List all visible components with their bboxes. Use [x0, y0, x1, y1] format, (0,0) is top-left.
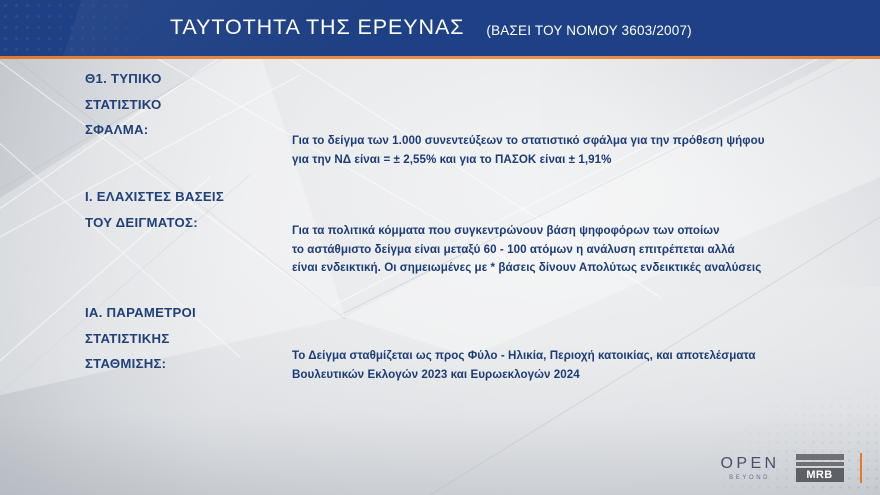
- section-body-statistical-error: Για το δείγμα των 1.000 συνεντεύξεων το …: [292, 132, 765, 169]
- section-body-minimum-bases: Για τα πολιτικά κόμματα που συγκεντρώνου…: [292, 222, 761, 278]
- mrb-logo-text: MRB: [796, 468, 844, 482]
- section-label-minimum-bases: Ι. ΕΛΑΧΙΣΤΕΣ ΒΑΣΕΙΣ ΤΟΥ ΔΕΙΓΜΑΤΟΣ:: [85, 184, 224, 235]
- label-line: ΙΑ. ΠΑΡΑΜΕΤΡΟΙ: [85, 300, 196, 326]
- section-label-weighting-parameters: ΙΑ. ΠΑΡΑΜΕΤΡΟΙ ΣΤΑΤΙΣΤΙΚΗΣ ΣΤΑΘΜΙΣΗΣ:: [85, 300, 196, 377]
- section-body-weighting-parameters: Το Δείγμα σταθμίζεται ως προς Φύλο - Ηλι…: [292, 347, 756, 384]
- logo-divider: [860, 453, 863, 483]
- body-line: Για τα πολιτικά κόμματα που συγκεντρώνου…: [292, 222, 761, 241]
- open-logo-tagline: BEYOND: [727, 475, 771, 481]
- label-line: Ι. ΕΛΑΧΙΣΤΕΣ ΒΑΣΕΙΣ: [85, 184, 224, 210]
- label-line: ΣΦΑΛΜΑ:: [85, 117, 162, 143]
- logo-group: OPEN BEYOND MRB: [717, 453, 862, 483]
- header-bar: ΤΑΥΤΟΤΗΤΑ ΤΗΣ ΕΡΕΥΝΑΣ (ΒΑΣΕΙ ΤΟΥ ΝΟΜΟΥ 3…: [0, 0, 880, 56]
- body-line: το αστάθμιστο δείγμα είναι μεταξύ 60 - 1…: [292, 241, 761, 260]
- page-title: ΤΑΥΤΟΤΗΤΑ ΤΗΣ ΕΡΕΥΝΑΣ: [170, 17, 464, 39]
- open-logo-wordmark: OPEN: [717, 456, 779, 472]
- body-line: είναι ενδεικτική. Οι σημειωμένες με * βά…: [292, 259, 761, 278]
- label-line: ΤΟΥ ΔΕΙΓΜΑΤΟΣ:: [85, 210, 224, 236]
- body-line: Για το δείγμα των 1.000 συνεντεύξεων το …: [292, 132, 765, 151]
- body-line: Το Δείγμα σταθμίζεται ως προς Φύλο - Ηλι…: [292, 347, 756, 366]
- open-beyond-logo: OPEN BEYOND: [717, 456, 779, 481]
- body-line: για την ΝΔ είναι = ± 2,55% και για το ΠΑ…: [292, 151, 765, 170]
- section-label-statistical-error: Θ1. ΤΥΠΙΚΟ ΣΤΑΤΙΣΤΙΚΟ ΣΦΑΛΜΑ:: [85, 66, 162, 143]
- label-line: Θ1. ΤΥΠΙΚΟ: [85, 66, 162, 92]
- label-line: ΣΤΑΤΙΣΤΙΚΗΣ: [85, 326, 196, 352]
- mrb-logo: MRB: [796, 454, 844, 482]
- slide-root: ΤΑΥΤΟΤΗΤΑ ΤΗΣ ΕΡΕΥΝΑΣ (ΒΑΣΕΙ ΤΟΥ ΝΟΜΟΥ 3…: [0, 0, 880, 495]
- label-line: ΣΤΑΤΙΣΤΙΚΟ: [85, 92, 162, 118]
- body-line: Βουλευτικών Εκλογών 2023 και Ευρωεκλογών…: [292, 366, 756, 385]
- page-subtitle: (ΒΑΣΕΙ ΤΟΥ ΝΟΜΟΥ 3603/2007): [486, 23, 691, 38]
- slide-content: Θ1. ΤΥΠΙΚΟ ΣΤΑΤΙΣΤΙΚΟ ΣΦΑΛΜΑ: Για το δεί…: [0, 57, 880, 495]
- header-content: ΤΑΥΤΟΤΗΤΑ ΤΗΣ ΕΡΕΥΝΑΣ (ΒΑΣΕΙ ΤΟΥ ΝΟΜΟΥ 3…: [0, 0, 880, 56]
- mrb-logo-bar: [796, 462, 844, 466]
- mrb-logo-bar: [796, 454, 844, 460]
- label-line: ΣΤΑΘΜΙΣΗΣ:: [85, 351, 196, 377]
